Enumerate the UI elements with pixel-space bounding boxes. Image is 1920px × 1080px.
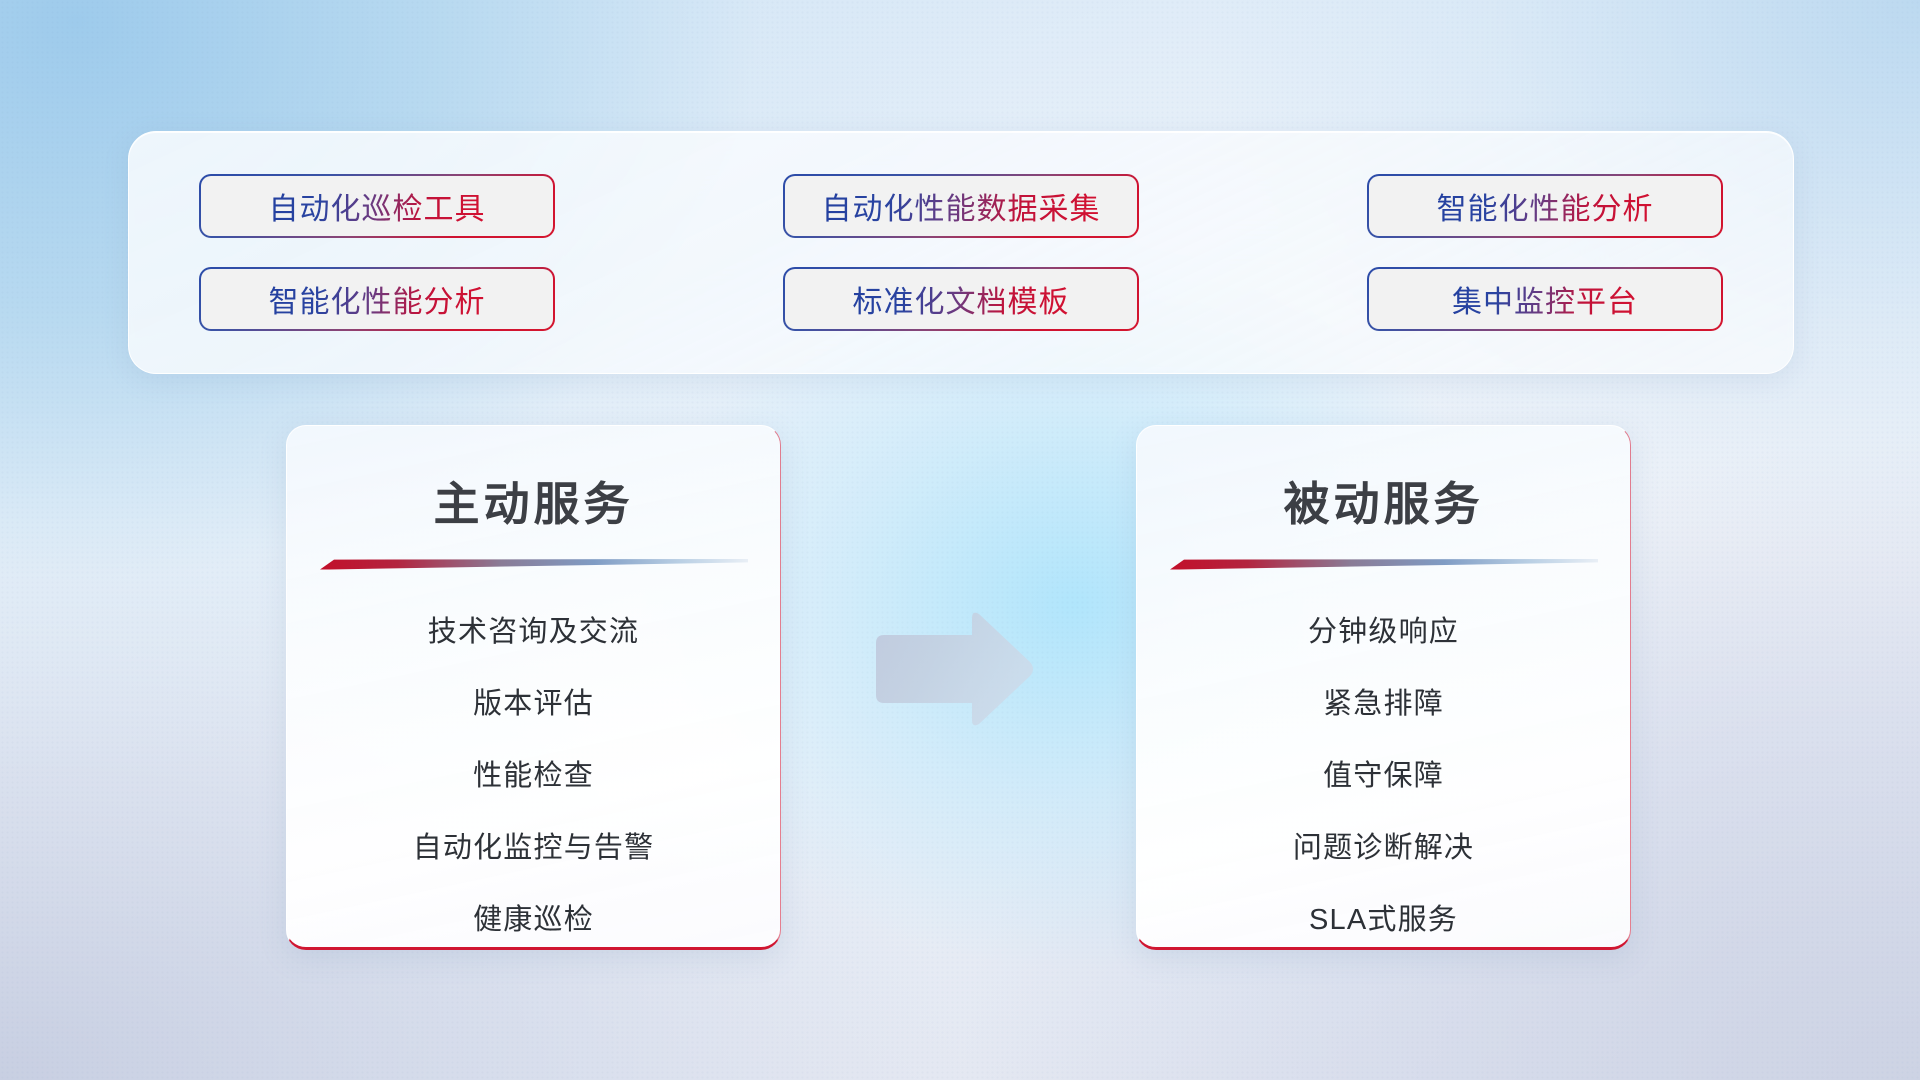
service-card-passive: 被动服务 分钟级响应 紧急排障 值守保障 bbox=[1136, 425, 1631, 950]
service-list-active: 技术咨询及交流 版本评估 性能检查 自动化监控与告警 健康巡检 bbox=[313, 596, 754, 956]
capability-pill-1-2[interactable]: 自动化性能数据采集 bbox=[783, 174, 1139, 238]
service-list-item: 自动化监控与告警 bbox=[313, 812, 754, 884]
service-list-item: 健康巡检 bbox=[313, 884, 754, 956]
capability-pill-label: 自动化性能数据采集 bbox=[822, 184, 1101, 228]
card-title: 主动服务 bbox=[434, 468, 634, 534]
capability-pill-2-2[interactable]: 标准化文档模板 bbox=[783, 267, 1139, 331]
service-card-active: 主动服务 技术咨询及交流 版本评估 性能检查 bbox=[286, 425, 781, 950]
capability-pill-label: 标准化文档模板 bbox=[853, 277, 1070, 321]
service-list-item: 分钟级响应 bbox=[1163, 596, 1604, 668]
capability-pill-2-1[interactable]: 智能化性能分析 bbox=[199, 267, 555, 331]
service-list-item: 性能检查 bbox=[313, 740, 754, 812]
card-title: 被动服务 bbox=[1284, 468, 1484, 534]
capability-pill-label: 集中监控平台 bbox=[1452, 277, 1638, 321]
capability-panel: 自动化巡检工具 自动化性能数据采集 智能化性能分析 智能化性能分析 标准化文档模… bbox=[128, 131, 1794, 374]
service-list-passive: 分钟级响应 紧急排障 值守保障 问题诊断解决 SLA式服务 bbox=[1163, 596, 1604, 956]
capability-row-1: 自动化巡检工具 自动化性能数据采集 智能化性能分析 bbox=[199, 174, 1723, 238]
diagram-canvas: 自动化巡检工具 自动化性能数据采集 智能化性能分析 智能化性能分析 标准化文档模… bbox=[0, 0, 1920, 1080]
arrow-right-icon bbox=[868, 608, 1036, 730]
capability-pill-label: 智能化性能分析 bbox=[1437, 184, 1654, 228]
service-list-item: SLA式服务 bbox=[1163, 884, 1604, 956]
capability-pill-2-3[interactable]: 集中监控平台 bbox=[1367, 267, 1723, 331]
service-list-item: 版本评估 bbox=[313, 668, 754, 740]
capability-row-2: 智能化性能分析 标准化文档模板 集中监控平台 bbox=[199, 267, 1723, 331]
capability-pill-label: 自动化巡检工具 bbox=[269, 184, 486, 228]
card-title-divider bbox=[320, 559, 748, 570]
capability-pill-label: 智能化性能分析 bbox=[269, 277, 486, 321]
service-list-item: 问题诊断解决 bbox=[1163, 812, 1604, 884]
capability-pill-1-1[interactable]: 自动化巡检工具 bbox=[199, 174, 555, 238]
service-list-item: 技术咨询及交流 bbox=[313, 596, 754, 668]
capability-pill-1-3[interactable]: 智能化性能分析 bbox=[1367, 174, 1723, 238]
service-list-item: 紧急排障 bbox=[1163, 668, 1604, 740]
card-title-divider bbox=[1170, 559, 1598, 570]
service-list-item: 值守保障 bbox=[1163, 740, 1604, 812]
